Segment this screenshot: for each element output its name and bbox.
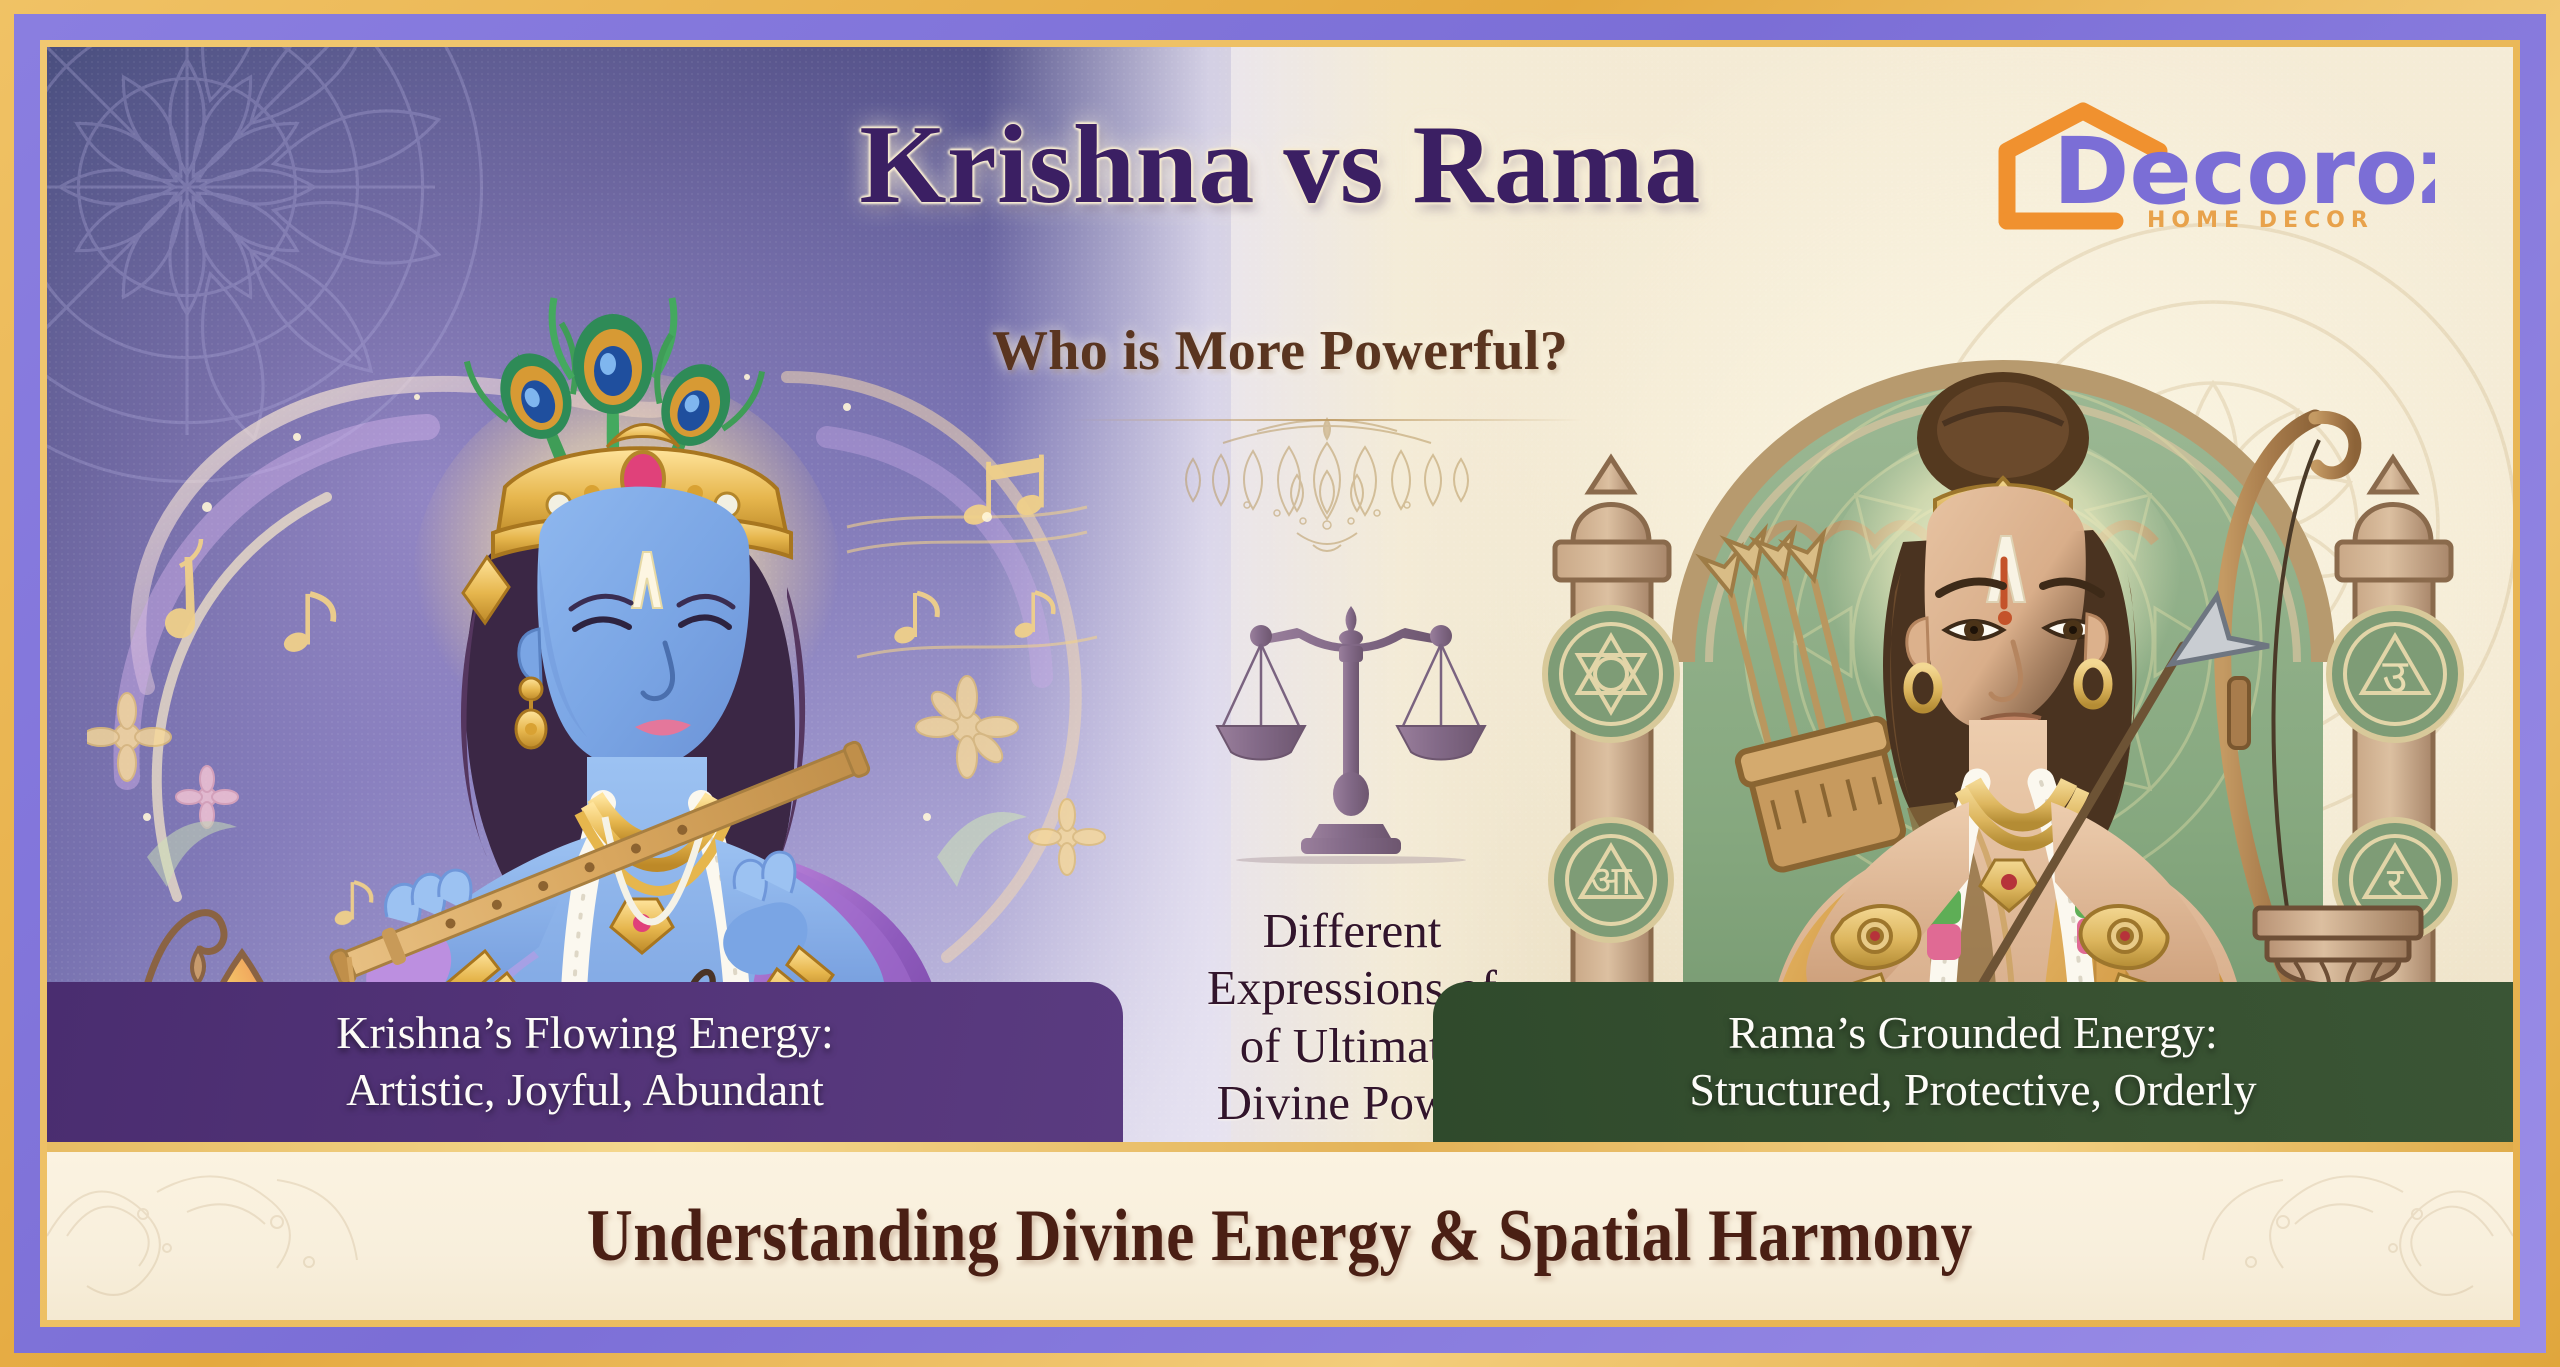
poster-canvas: आ उ र	[0, 0, 2560, 1367]
krishna-caption-line2: Artistic, Joyful, Abundant	[336, 1062, 833, 1119]
krishna-caption-banner: Krishna’s Flowing Energy: Artistic, Joyf…	[47, 982, 1123, 1142]
header-mandala-ornament-icon	[1127, 413, 1527, 583]
poster-stage: आ उ र	[47, 47, 2513, 1320]
svg-text:र: र	[2387, 860, 2404, 906]
center-line-1: Different	[1107, 902, 1597, 959]
header-divider	[1072, 419, 1582, 421]
krishna-caption-line1: Krishna’s Flowing Energy:	[336, 1005, 833, 1062]
balance-scale-icon	[1201, 602, 1501, 867]
rama-caption-line1: Rama’s Grounded Energy:	[1689, 1005, 2256, 1062]
svg-text:उ: उ	[2382, 649, 2408, 703]
brand-tagline: HOME DECOR	[2147, 208, 2374, 233]
rama-caption-line2: Structured, Protective, Orderly	[1689, 1062, 2256, 1119]
bottom-tagline-text: Understanding Divine Energy & Spatial Ha…	[587, 1194, 1973, 1279]
brand-logo[interactable]: Decorozy HOME DECOR	[1965, 99, 2435, 234]
page-subtitle: Who is More Powerful?	[47, 319, 2513, 383]
bottom-ornament-right-icon	[2183, 1152, 2513, 1320]
svg-text:आ: आ	[1591, 858, 1633, 904]
bottom-gold-rule	[47, 1142, 2513, 1152]
bottom-tagline-bar: Understanding Divine Energy & Spatial Ha…	[47, 1152, 2513, 1320]
rama-caption-banner: Rama’s Grounded Energy: Structured, Prot…	[1433, 982, 2513, 1142]
bottom-ornament-left-icon	[47, 1152, 377, 1320]
